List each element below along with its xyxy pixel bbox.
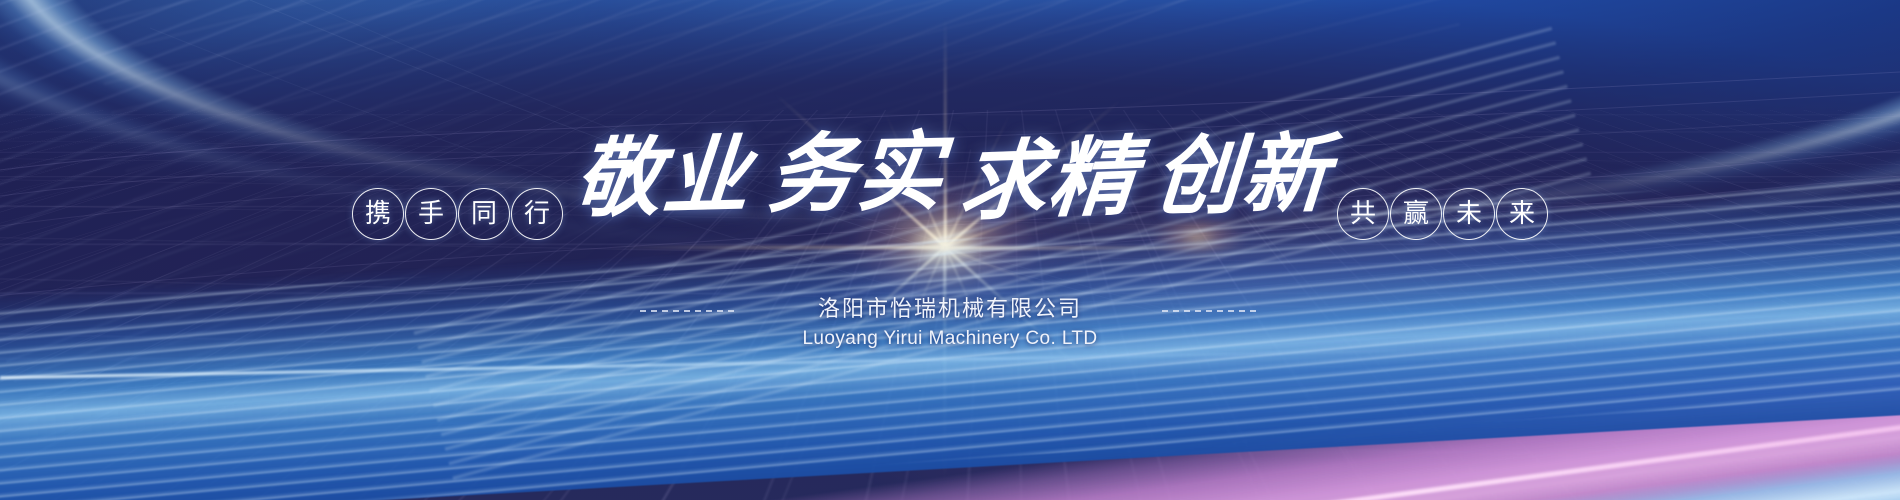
circled-char: 行	[511, 188, 563, 240]
slogan-word: 务实	[765, 129, 947, 218]
circled-char: 同	[458, 188, 510, 240]
circled-char: 来	[1496, 188, 1548, 240]
company-name-english: Luoyang Yirui Machinery Co. LTD	[802, 327, 1097, 351]
slogan-word: 敬业	[571, 132, 754, 223]
right-circled-phrase: 共 赢 未 来	[1337, 188, 1548, 240]
circled-char: 赢	[1390, 188, 1442, 240]
slogan-word: 求精	[957, 133, 1141, 225]
left-circled-phrase: 携 手 同 行	[352, 188, 563, 240]
circled-char: 手	[405, 188, 457, 240]
company-name-chinese: 洛阳市怡瑞机械有限公司	[818, 296, 1082, 324]
company-culture-banner: 携 手 同 行 敬业 务实 求精 创新 共 赢 未 来 洛阳市怡瑞机械有限公司 …	[0, 0, 1900, 500]
slogan-calligraphy: 敬业 务实 求精 创新	[575, 120, 1330, 235]
circled-char: 携	[352, 188, 404, 240]
banner-content: 携 手 同 行 敬业 务实 求精 创新 共 赢 未 来 洛阳市怡瑞机械有限公司 …	[0, 0, 1900, 500]
company-name-block: 洛阳市怡瑞机械有限公司 Luoyang Yirui Machinery Co. …	[0, 296, 1900, 350]
circled-char: 未	[1443, 188, 1495, 240]
circled-char: 共	[1337, 188, 1389, 240]
slogan-word: 创新	[1151, 131, 1333, 221]
